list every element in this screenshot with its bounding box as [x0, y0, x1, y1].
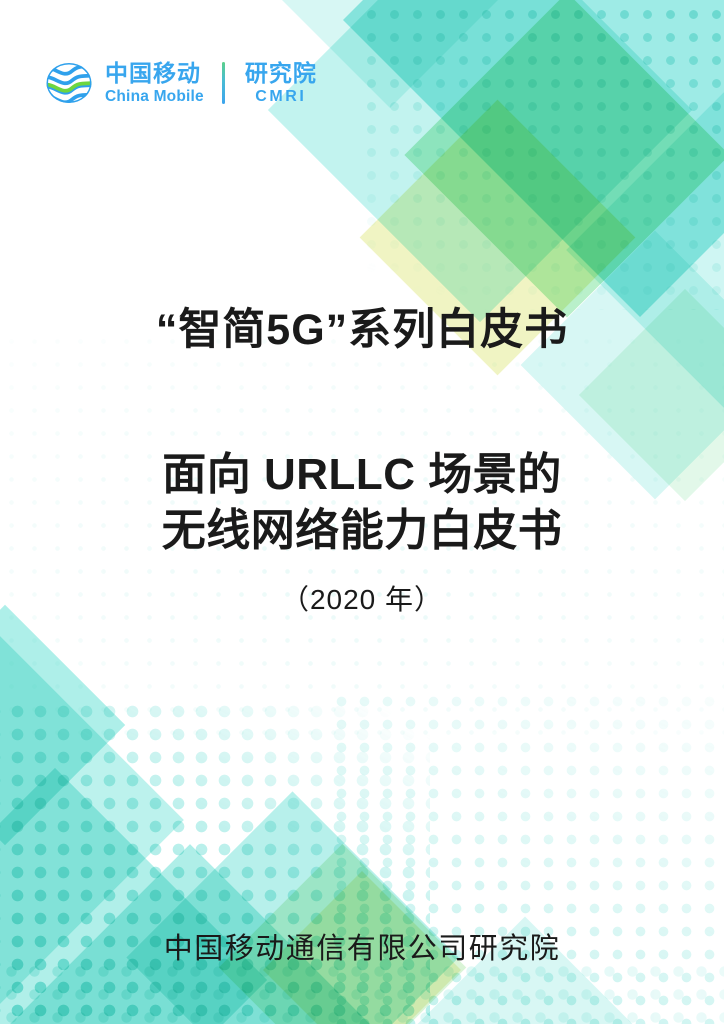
- brand-company-en: China Mobile: [105, 89, 204, 105]
- publisher-name: 中国移动通信有限公司研究院: [0, 925, 724, 967]
- brand-institute-cn: 研究院: [245, 62, 317, 85]
- series-title: “智简5G”系列白皮书: [0, 306, 724, 355]
- document-title-line-1: 面向 URLLC 场景的: [0, 447, 724, 503]
- brand-company-text: 中国移动 China Mobile: [105, 62, 204, 105]
- brand-institute-en: CMRI: [245, 89, 317, 105]
- document-title: 面向 URLLC 场景的 无线网络能力白皮书: [0, 447, 724, 560]
- logo-divider: [222, 62, 225, 104]
- china-mobile-logo-mark: [44, 58, 94, 108]
- brand-logo-lockup: 中国移动 China Mobile 研究院 CMRI: [44, 58, 317, 108]
- document-title-line-2: 无线网络能力白皮书: [0, 503, 724, 559]
- publication-year: （2020 年）: [0, 578, 724, 618]
- cover-content: 中国移动 China Mobile 研究院 CMRI “智简5G”系列白皮书 面…: [0, 0, 724, 1024]
- brand-institute-text: 研究院 CMRI: [245, 62, 317, 105]
- document-cover-page: 中国移动 China Mobile 研究院 CMRI “智简5G”系列白皮书 面…: [0, 0, 724, 1024]
- brand-company-cn: 中国移动: [105, 62, 204, 85]
